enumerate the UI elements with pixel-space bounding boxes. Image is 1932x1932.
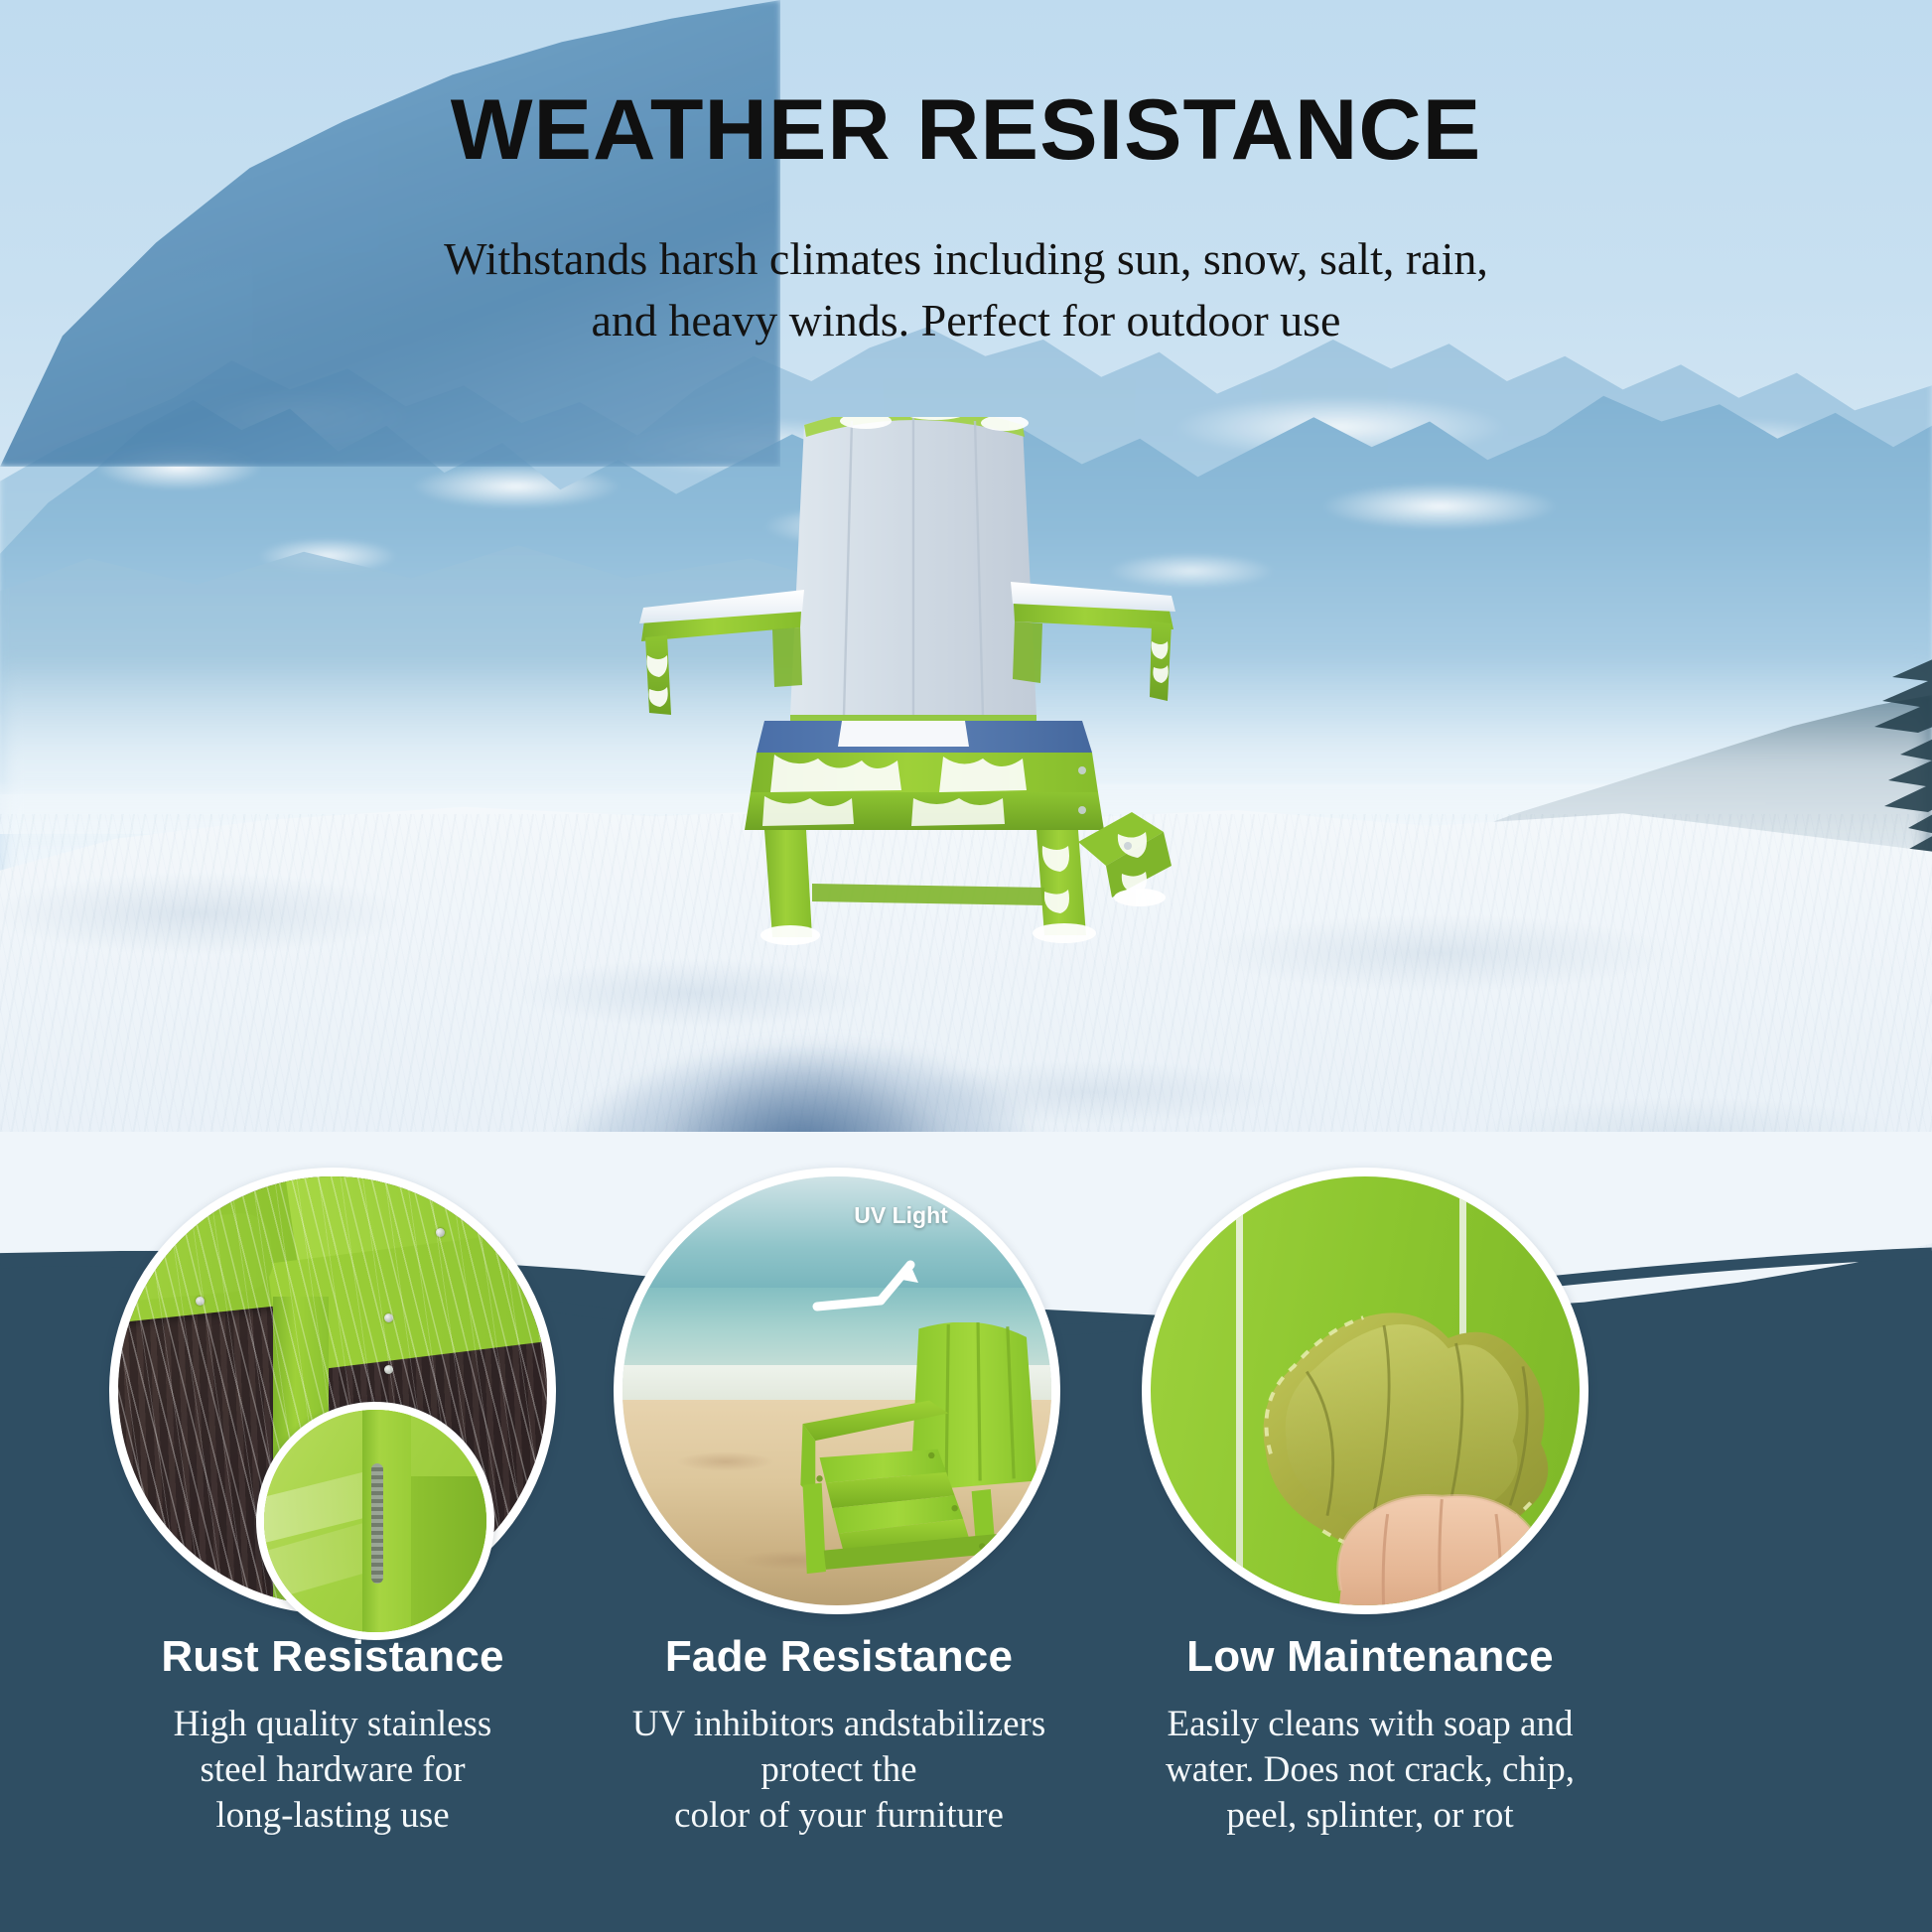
feature-body-line-1: High quality stainless (174, 1704, 492, 1744)
feature-body: UV inhibitors andstabilizers protect the… (581, 1702, 1097, 1839)
feature-body: Easily cleans with soap and water. Does … (1112, 1702, 1628, 1839)
feature-body-line-3: peel, splinter, or rot (1226, 1795, 1513, 1836)
feature-body-line-3: color of your furniture (674, 1795, 1004, 1836)
beach-chair (752, 1322, 1060, 1596)
feature-image-low-maintenance (1142, 1168, 1588, 1614)
feature-body: High quality stainless steel hardware fo… (74, 1702, 591, 1839)
feature-inset-hardware-detail (256, 1402, 494, 1640)
stainless-bolt-icon (371, 1463, 383, 1584)
feature-body-line-2: water. Does not crack, chip, (1166, 1749, 1575, 1790)
feature-title: Fade Resistance (581, 1632, 1097, 1682)
feature-text-low-maintenance: Low Maintenance Easily cleans with soap … (1112, 1632, 1628, 1839)
feature-body-line-1: Easily cleans with soap and (1168, 1704, 1574, 1744)
feature-body-line-1: UV inhibitors andstabilizers (632, 1704, 1046, 1744)
chair-post-detail-secondary (411, 1476, 486, 1640)
feature-text-rust-resistance: Rust Resistance High quality stainless s… (74, 1632, 591, 1839)
hand (1322, 1443, 1572, 1614)
subtitle-line-2: and heavy winds. Perfect for outdoor use (0, 290, 1932, 351)
feature-body-line-3: long-lasting use (215, 1795, 449, 1836)
feature-image-fade-resistance: UV Light (614, 1168, 1060, 1614)
feature-text-fade-resistance: Fade Resistance UV inhibitors andstabili… (581, 1632, 1097, 1839)
subtitle-line-1: Withstands harsh climates including sun,… (0, 228, 1932, 290)
feature-body-line-2: protect the (760, 1749, 916, 1790)
chair-post-detail (362, 1402, 411, 1640)
uv-light-callout-label: UV Light (854, 1202, 948, 1229)
page-title: WEATHER RESISTANCE (0, 81, 1932, 180)
feature-title: Low Maintenance (1112, 1632, 1628, 1682)
feature-title: Rust Resistance (74, 1632, 591, 1682)
panel-seam (1236, 1168, 1243, 1614)
page-subtitle: Withstands harsh climates including sun,… (0, 228, 1932, 351)
infographic-canvas: WEATHER RESISTANCE Withstands harsh clim… (0, 0, 1932, 1932)
uv-light-arrow-icon (811, 1245, 930, 1334)
hero-adirondack-chair (616, 417, 1350, 1052)
feature-body-line-2: steel hardware for (200, 1749, 465, 1790)
